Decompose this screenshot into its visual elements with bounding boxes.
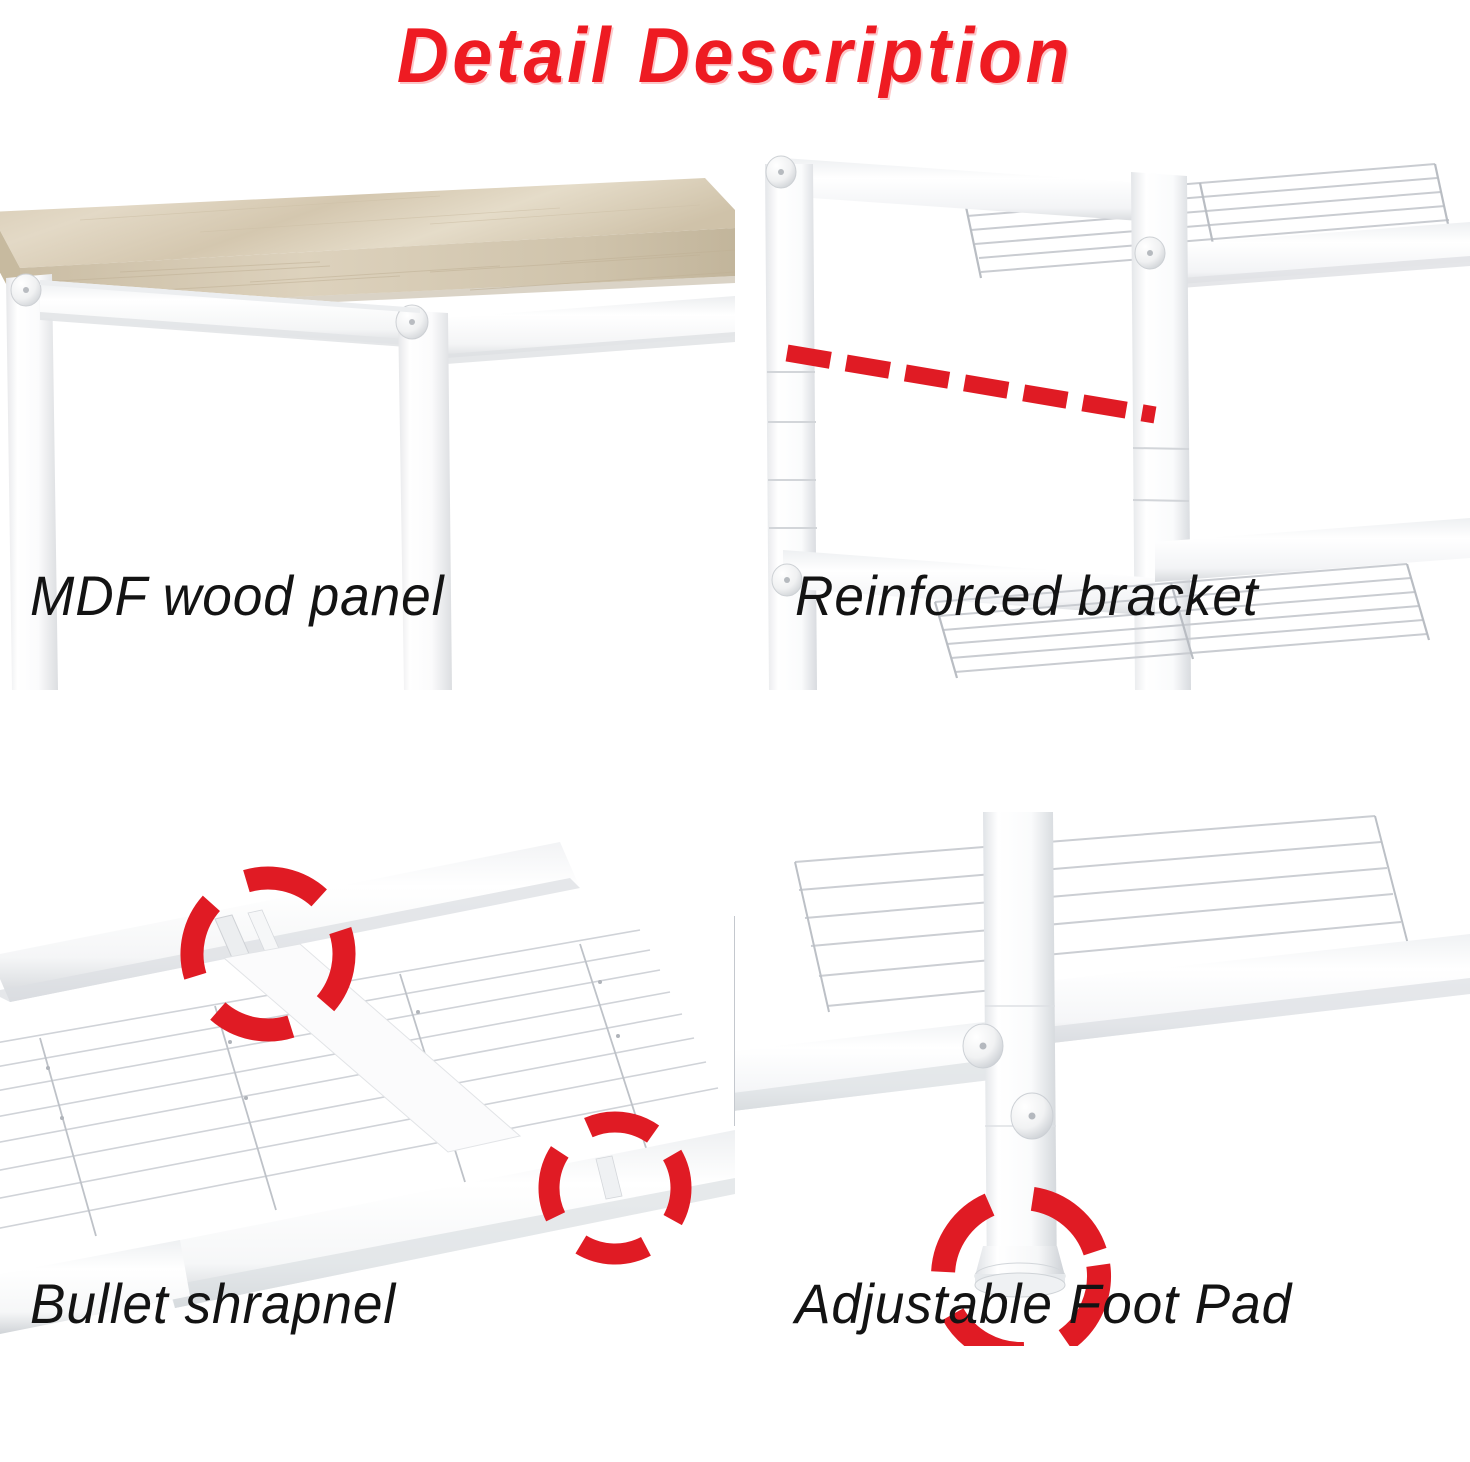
detail-grid: MDF wood panel bbox=[0, 150, 1470, 1462]
bullet-shrapnel-photo bbox=[0, 806, 735, 1346]
detail-cell-bullet-shrapnel: Bullet shrapnel bbox=[0, 806, 735, 1462]
detail-cell-adjustable-foot-pad: Adjustable Foot Pad bbox=[735, 806, 1470, 1462]
detail-cell-reinforced-bracket: Reinforced bracket bbox=[735, 150, 1470, 806]
caption-bullet-shrapnel: Bullet shrapnel bbox=[30, 1276, 396, 1332]
adjustable-foot-pad-illustration bbox=[735, 806, 1470, 1346]
detail-cell-mdf-wood-panel: MDF wood panel bbox=[0, 150, 735, 806]
adjustable-foot-pad-photo bbox=[735, 806, 1470, 1346]
caption-mdf-wood-panel: MDF wood panel bbox=[30, 568, 444, 624]
page-title: Detail Description bbox=[59, 0, 1411, 110]
caption-reinforced-bracket: Reinforced bracket bbox=[795, 568, 1259, 624]
caption-adjustable-foot-pad: Adjustable Foot Pad bbox=[795, 1276, 1292, 1332]
bullet-shrapnel-illustration bbox=[0, 806, 735, 1346]
